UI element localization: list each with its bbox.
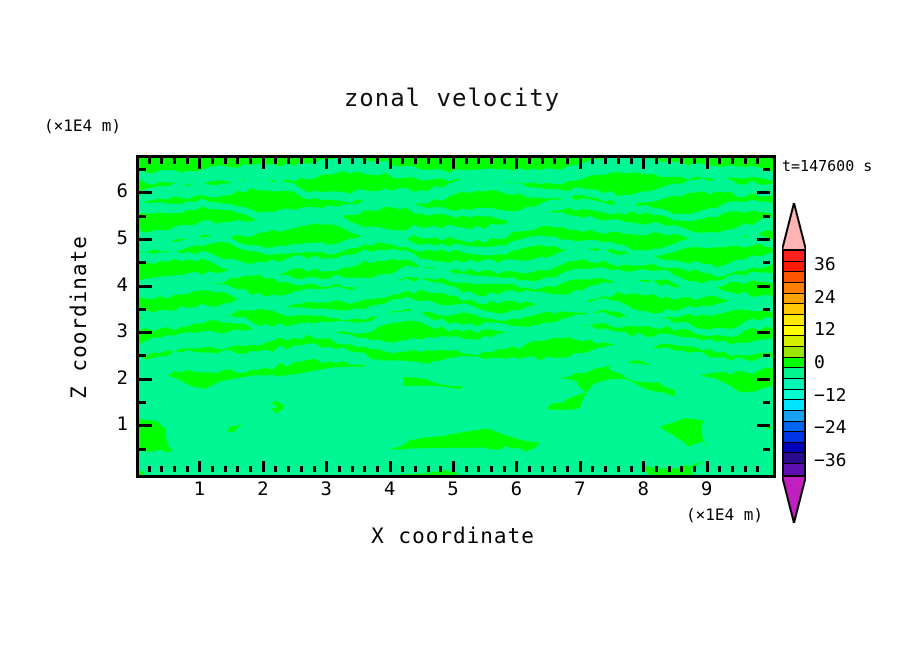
x-axis-tick bbox=[668, 158, 671, 164]
colorbar-tick-label: 0 bbox=[814, 352, 825, 373]
colorbar-under-arrow-icon bbox=[782, 476, 806, 523]
x-axis-tick bbox=[718, 158, 721, 164]
colorbar-cell bbox=[784, 283, 804, 294]
colorbar bbox=[779, 203, 809, 523]
x-axis-tick bbox=[401, 466, 404, 472]
x-axis-tick bbox=[198, 158, 201, 169]
x-axis-tick bbox=[756, 158, 759, 164]
y-axis-tick bbox=[757, 238, 770, 241]
y-axis-tick bbox=[763, 308, 770, 311]
x-axis-tick bbox=[693, 158, 696, 164]
x-axis-tick bbox=[718, 466, 721, 472]
colorbar-cell bbox=[784, 379, 804, 390]
x-axis-tick bbox=[211, 466, 214, 472]
x-axis-tick bbox=[376, 158, 379, 164]
x-axis-tick bbox=[313, 466, 316, 472]
colorbar-cell bbox=[784, 453, 804, 464]
colorbar-over-arrow-icon bbox=[782, 203, 806, 250]
y-axis-tick bbox=[763, 215, 770, 218]
x-axis-tick bbox=[249, 466, 252, 472]
x-axis-tick bbox=[186, 158, 189, 164]
x-axis-tick bbox=[604, 158, 607, 164]
y-axis-tick bbox=[139, 331, 152, 334]
x-axis-tick bbox=[274, 158, 277, 164]
y-axis-tick bbox=[763, 354, 770, 357]
x-axis-tick bbox=[414, 158, 417, 164]
y-axis-tick bbox=[139, 308, 146, 311]
x-axis-tick bbox=[236, 158, 239, 164]
x-axis-tick bbox=[389, 461, 392, 472]
x-axis-tick bbox=[630, 466, 633, 472]
colorbar-tick-label: 24 bbox=[814, 287, 836, 308]
x-axis-tick-label: 9 bbox=[687, 478, 727, 500]
x-axis-tick bbox=[325, 461, 328, 472]
x-axis-unit-label: (×1E4 m) bbox=[686, 505, 763, 524]
x-axis-tick bbox=[668, 466, 671, 472]
y-axis-tick bbox=[763, 448, 770, 451]
y-axis-tick bbox=[763, 168, 770, 171]
x-axis-tick bbox=[503, 158, 506, 164]
x-axis-tick bbox=[706, 158, 709, 169]
x-axis-tick bbox=[173, 158, 176, 164]
x-axis-tick bbox=[274, 466, 277, 472]
y-axis-tick bbox=[139, 261, 146, 264]
x-axis-tick-label: 5 bbox=[433, 478, 473, 500]
x-axis-tick bbox=[351, 158, 354, 164]
colorbar-cells bbox=[782, 249, 806, 477]
y-axis-tick-label: 6 bbox=[88, 180, 128, 202]
x-axis-tick bbox=[148, 158, 151, 164]
x-axis-tick bbox=[363, 158, 366, 164]
y-axis-tick bbox=[757, 424, 770, 427]
x-axis-tick bbox=[389, 158, 392, 169]
x-axis-tick bbox=[541, 158, 544, 164]
x-axis-tick bbox=[680, 158, 683, 164]
x-axis-tick bbox=[566, 158, 569, 164]
x-axis-tick bbox=[477, 158, 480, 164]
x-axis-tick bbox=[173, 466, 176, 472]
x-axis-tick-label: 4 bbox=[370, 478, 410, 500]
x-axis-tick bbox=[351, 466, 354, 472]
colorbar-tick-label: −24 bbox=[814, 417, 847, 438]
colorbar-cell bbox=[784, 251, 804, 262]
x-axis-tick bbox=[630, 158, 633, 164]
colorbar-cell bbox=[784, 368, 804, 379]
colorbar-cell bbox=[784, 422, 804, 433]
x-axis-tick bbox=[528, 158, 531, 164]
y-axis-tick bbox=[139, 238, 152, 241]
x-axis-tick bbox=[604, 466, 607, 472]
x-axis-tick bbox=[642, 158, 645, 169]
x-axis-tick-label: 3 bbox=[306, 478, 346, 500]
x-axis-tick bbox=[198, 461, 201, 472]
x-axis-tick bbox=[515, 461, 518, 472]
x-axis-tick bbox=[401, 158, 404, 164]
colorbar-cell bbox=[784, 390, 804, 401]
colorbar-cell bbox=[784, 294, 804, 305]
colorbar-tick-label: −12 bbox=[814, 385, 847, 406]
x-axis-tick bbox=[655, 466, 658, 472]
x-axis-tick bbox=[591, 158, 594, 164]
x-axis-tick bbox=[617, 158, 620, 164]
x-axis-tick bbox=[680, 466, 683, 472]
x-axis-tick bbox=[160, 466, 163, 472]
colorbar-cell bbox=[784, 443, 804, 454]
x-axis-tick bbox=[224, 466, 227, 472]
colorbar-tick-label: −36 bbox=[814, 450, 847, 471]
x-axis-tick bbox=[376, 466, 379, 472]
colorbar-cell bbox=[784, 464, 804, 475]
x-axis-tick bbox=[148, 466, 151, 472]
colorbar-cell bbox=[784, 272, 804, 283]
x-axis-tick bbox=[490, 466, 493, 472]
x-axis-tick bbox=[300, 466, 303, 472]
x-axis-tick bbox=[503, 466, 506, 472]
x-axis-tick bbox=[579, 461, 582, 472]
y-axis-tick bbox=[139, 354, 146, 357]
contour-field-svg bbox=[139, 158, 773, 475]
x-axis-tick bbox=[287, 466, 290, 472]
y-axis-tick bbox=[139, 448, 146, 451]
x-axis-tick bbox=[465, 466, 468, 472]
x-axis-tick bbox=[287, 158, 290, 164]
y-axis-tick-label: 1 bbox=[88, 413, 128, 435]
y-axis-tick bbox=[139, 168, 146, 171]
x-axis-tick bbox=[427, 466, 430, 472]
colorbar-cell bbox=[784, 432, 804, 443]
y-axis-tick-label: 3 bbox=[88, 320, 128, 342]
x-axis-tick bbox=[414, 466, 417, 472]
y-axis-unit-label: (×1E4 m) bbox=[44, 116, 121, 135]
y-axis-tick bbox=[763, 261, 770, 264]
y-axis-tick bbox=[139, 191, 152, 194]
colorbar-cell bbox=[784, 336, 804, 347]
colorbar-cell bbox=[784, 400, 804, 411]
x-axis-tick bbox=[465, 158, 468, 164]
x-axis-tick bbox=[693, 466, 696, 472]
x-axis-tick bbox=[313, 158, 316, 164]
y-axis-tick bbox=[139, 215, 146, 218]
contour-field bbox=[139, 158, 773, 475]
x-axis-tick bbox=[427, 158, 430, 164]
x-axis-tick bbox=[224, 158, 227, 164]
y-axis-tick bbox=[139, 401, 146, 404]
x-axis-tick bbox=[338, 158, 341, 164]
colorbar-cell bbox=[784, 347, 804, 358]
y-axis-tick bbox=[757, 331, 770, 334]
x-axis-tick bbox=[642, 461, 645, 472]
x-axis-tick bbox=[439, 158, 442, 164]
x-axis-tick bbox=[553, 158, 556, 164]
x-axis-tick bbox=[744, 466, 747, 472]
x-axis-tick-label: 6 bbox=[496, 478, 536, 500]
y-axis-tick bbox=[139, 285, 152, 288]
x-axis-tick bbox=[553, 466, 556, 472]
x-axis-tick bbox=[731, 466, 734, 472]
x-axis-tick bbox=[452, 461, 455, 472]
y-axis-tick bbox=[139, 424, 152, 427]
colorbar-cell bbox=[784, 304, 804, 315]
y-axis-tick bbox=[757, 191, 770, 194]
y-axis-tick-label: 4 bbox=[88, 274, 128, 296]
x-axis-tick bbox=[300, 158, 303, 164]
x-axis-tick bbox=[566, 466, 569, 472]
colorbar-cell bbox=[784, 315, 804, 326]
x-axis-tick bbox=[528, 466, 531, 472]
x-axis-tick bbox=[515, 158, 518, 169]
colorbar-cell bbox=[784, 411, 804, 422]
colorbar-cell bbox=[784, 358, 804, 369]
x-axis-tick bbox=[338, 466, 341, 472]
y-axis-tick bbox=[139, 378, 152, 381]
x-axis-tick bbox=[262, 461, 265, 472]
x-axis-tick-label: 8 bbox=[623, 478, 663, 500]
colorbar-cell bbox=[784, 262, 804, 273]
x-axis-tick bbox=[160, 158, 163, 164]
x-axis-tick bbox=[591, 466, 594, 472]
x-axis-tick bbox=[452, 158, 455, 169]
y-axis-tick bbox=[757, 285, 770, 288]
x-axis-tick-label: 1 bbox=[179, 478, 219, 500]
page-title: zonal velocity bbox=[0, 84, 904, 112]
x-axis-tick bbox=[477, 466, 480, 472]
x-axis-tick bbox=[490, 158, 493, 164]
y-axis-tick-label: 5 bbox=[88, 227, 128, 249]
x-axis-tick bbox=[579, 158, 582, 169]
x-axis-tick bbox=[262, 158, 265, 169]
y-axis-tick bbox=[757, 378, 770, 381]
x-axis-tick bbox=[706, 461, 709, 472]
x-axis-tick bbox=[186, 466, 189, 472]
x-axis-tick bbox=[211, 158, 214, 164]
x-axis-tick bbox=[731, 158, 734, 164]
x-axis-title: X coordinate bbox=[136, 524, 770, 548]
x-axis-tick bbox=[655, 158, 658, 164]
x-axis-tick bbox=[236, 466, 239, 472]
x-axis-tick bbox=[617, 466, 620, 472]
y-axis-tick bbox=[763, 401, 770, 404]
x-axis-tick bbox=[439, 466, 442, 472]
plot-frame bbox=[136, 155, 776, 478]
x-axis-tick bbox=[744, 158, 747, 164]
x-axis-tick bbox=[325, 158, 328, 169]
x-axis-tick bbox=[541, 466, 544, 472]
x-axis-tick bbox=[756, 466, 759, 472]
colorbar-cell bbox=[784, 326, 804, 337]
x-axis-tick-label: 2 bbox=[243, 478, 283, 500]
y-axis-tick-label: 2 bbox=[88, 367, 128, 389]
time-annotation: t=147600 s bbox=[782, 157, 872, 175]
colorbar-tick-label: 36 bbox=[814, 254, 836, 275]
x-axis-tick bbox=[363, 466, 366, 472]
colorbar-tick-label: 12 bbox=[814, 319, 836, 340]
x-axis-tick bbox=[249, 158, 252, 164]
x-axis-tick-label: 7 bbox=[560, 478, 600, 500]
